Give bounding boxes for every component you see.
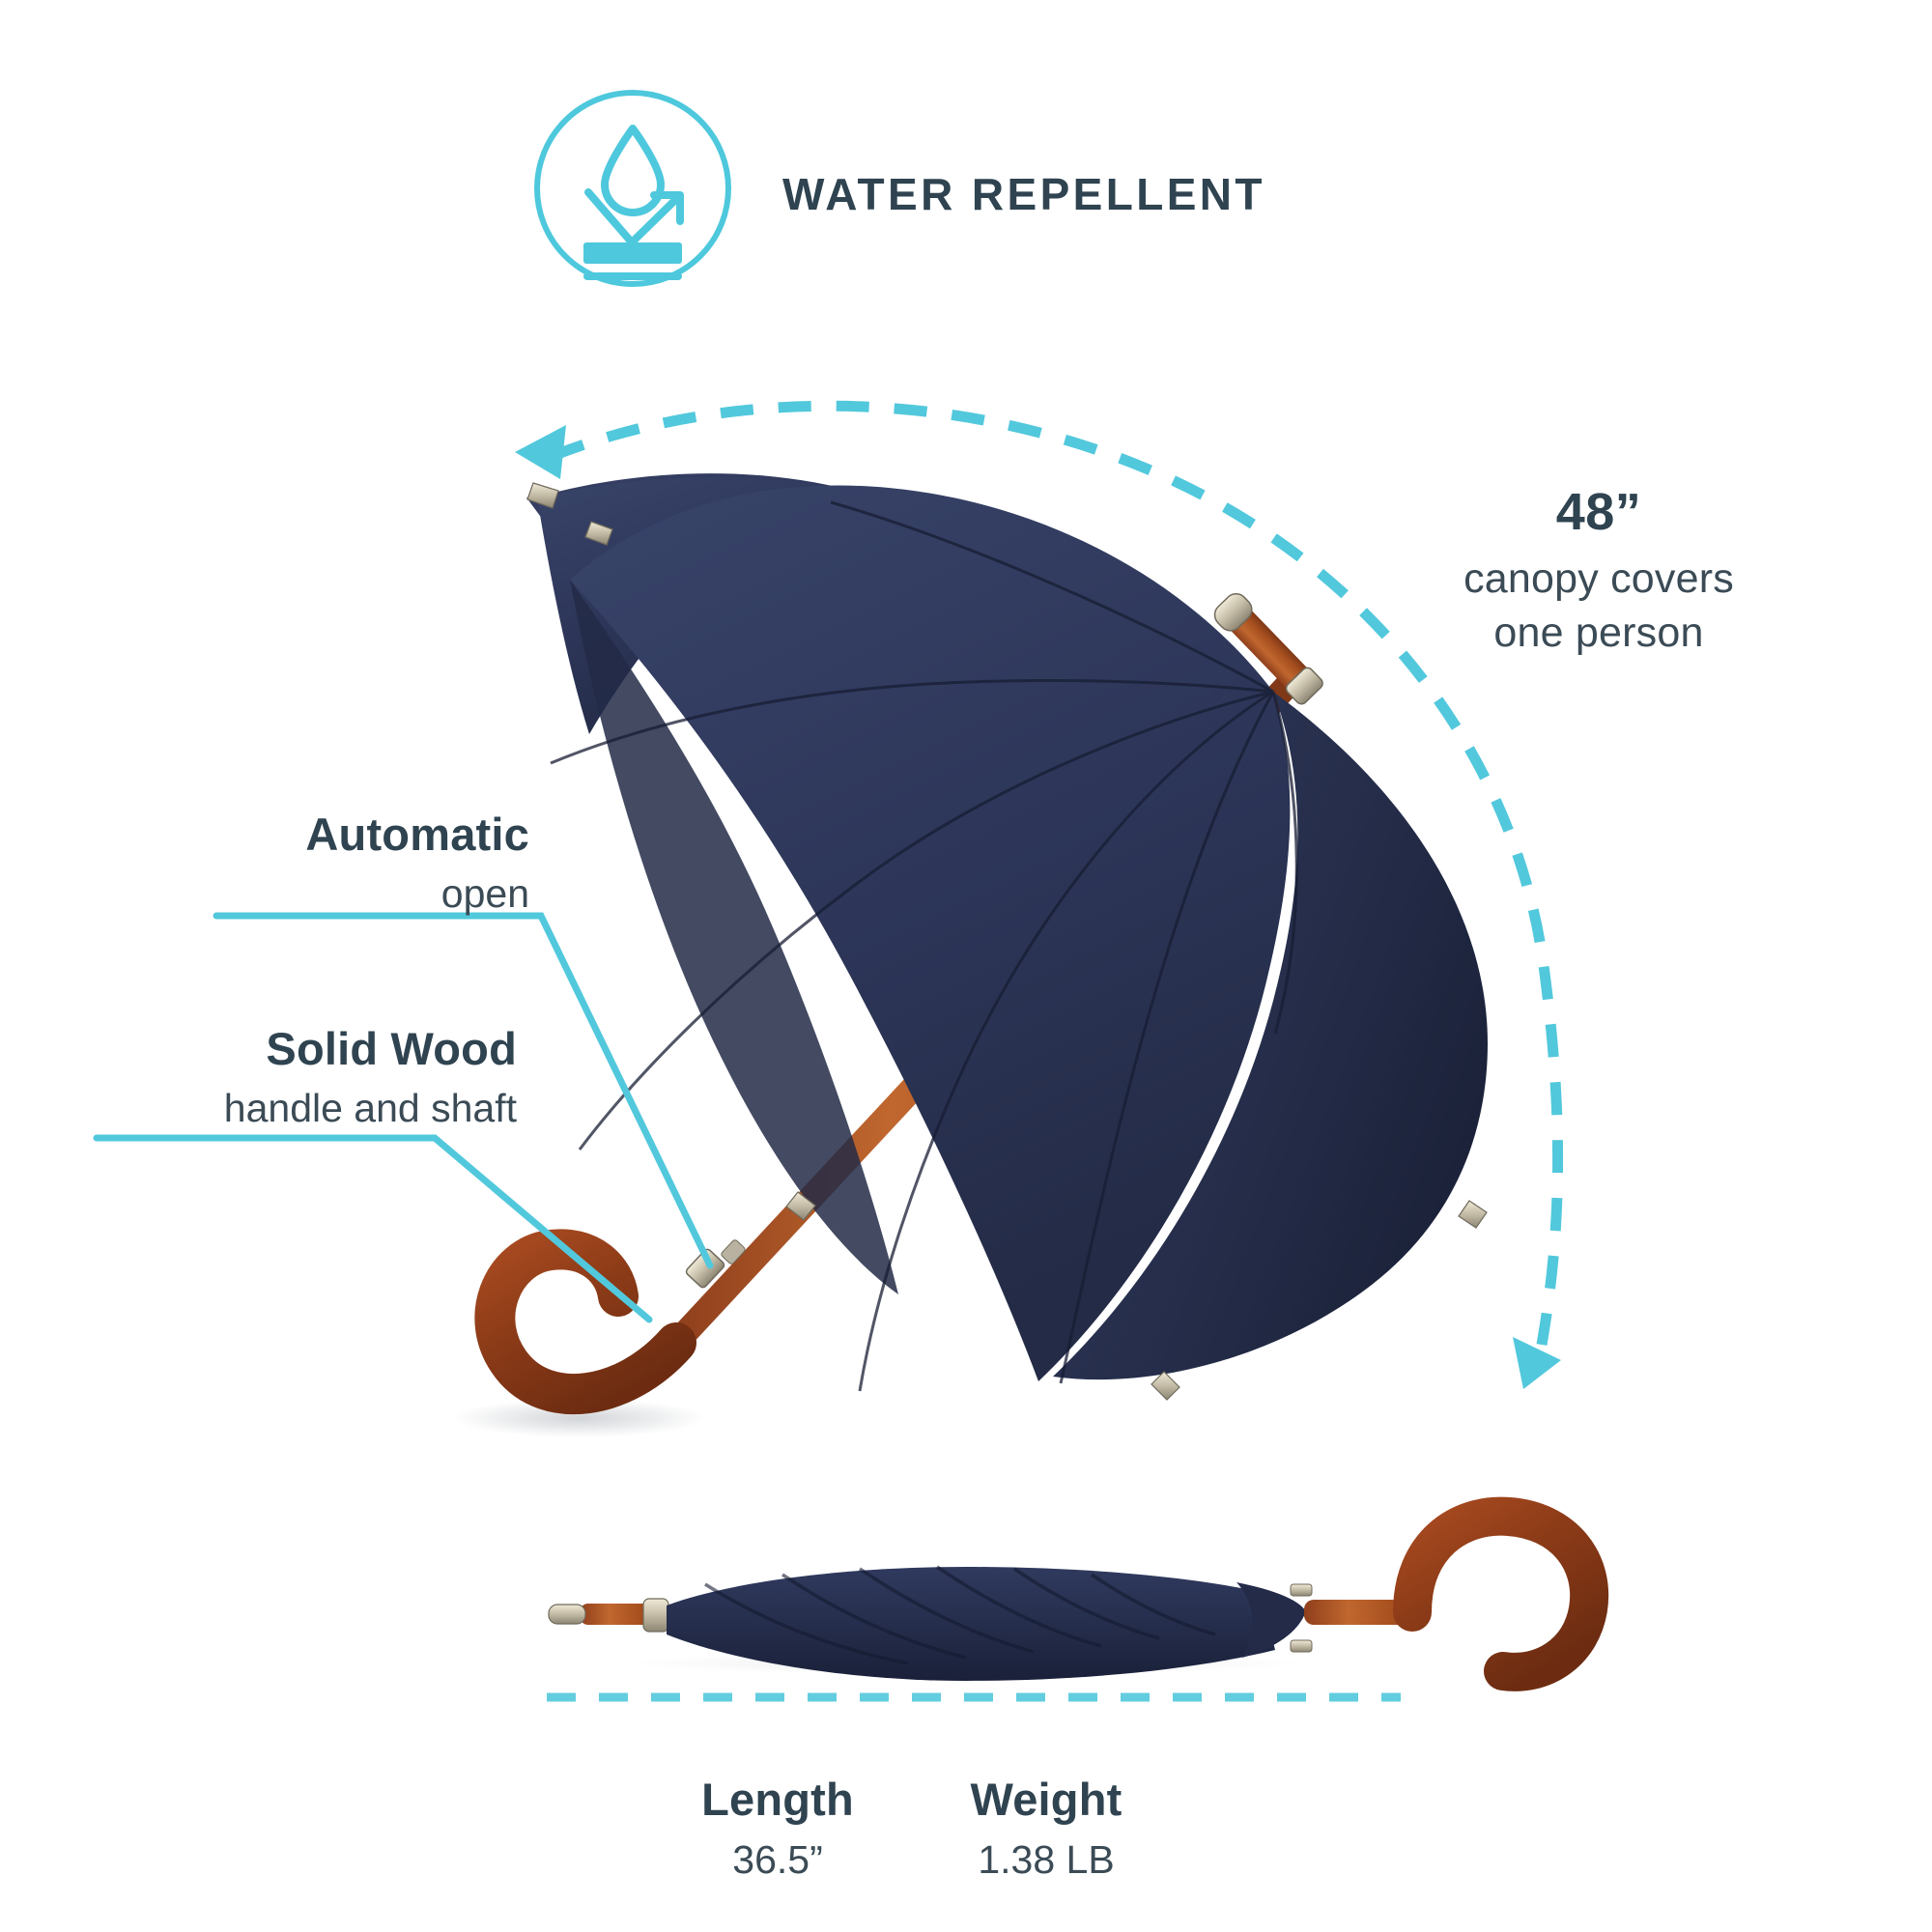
callout-canopy: 48” canopy covers one person — [1410, 483, 1787, 659]
callout-automatic: Automatic open — [0, 810, 529, 918]
spec-weight-label: Weight — [945, 1773, 1148, 1826]
spec-weight-value: 1.38 LB — [945, 1837, 1148, 1883]
spec-length: Length 36.5” — [676, 1773, 879, 1883]
canopy-desc-line1: canopy covers — [1410, 554, 1787, 605]
spec-row: Length 36.5” Weight 1.38 LB — [676, 1773, 1148, 1883]
canopy-dimension-arc — [515, 406, 1561, 1389]
callout-solid-wood: Solid Wood handle and shaft — [0, 1024, 517, 1132]
automatic-title: Automatic — [0, 810, 529, 861]
closed-umbrella-image — [549, 1517, 1589, 1681]
open-umbrella-image — [454, 473, 1488, 1437]
automatic-subtitle: open — [0, 870, 529, 918]
solid-wood-leader-line — [97, 1138, 649, 1320]
canopy-size-value: 48” — [1410, 483, 1787, 541]
solid-wood-title: Solid Wood — [0, 1024, 517, 1075]
page-title: WATER REPELLENT — [782, 172, 1265, 216]
header-badge: WATER REPELLENT — [529, 85, 1265, 292]
canopy-desc-line2: one person — [1410, 609, 1787, 659]
infographic-page: WATER REPELLENT — [0, 0, 1932, 1932]
spec-length-value: 36.5” — [676, 1837, 879, 1883]
spec-length-label: Length — [676, 1773, 879, 1826]
solid-wood-subtitle: handle and shaft — [0, 1085, 517, 1132]
spec-weight: Weight 1.38 LB — [945, 1773, 1148, 1883]
water-repellent-icon — [529, 85, 736, 292]
